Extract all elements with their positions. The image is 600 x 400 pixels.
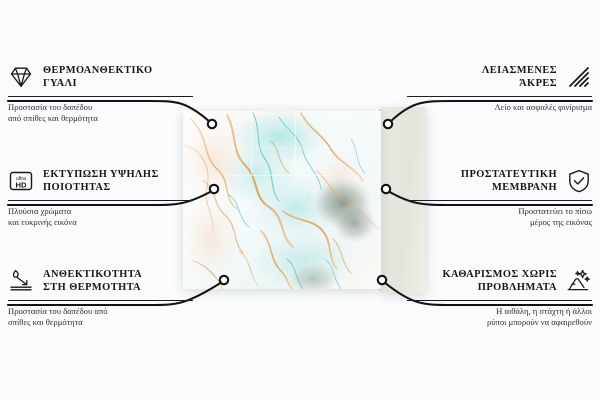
feature-divider (407, 96, 592, 97)
feature-header: ΚΑΘΑΡΙΣΜΟΣ ΧΩΡΙΣ ΠΡΟΒΛΗΜΑΤΑ (407, 266, 592, 296)
feature-protective-membrane[interactable]: ΠΡΟΣΤΑΤΕΥΤΙΚΗ ΜΕΜΒΡΑΝΗ Προστατεύει το πί… (407, 166, 592, 228)
feature-divider (407, 300, 592, 301)
glass-frame-reflection-3 (229, 175, 333, 176)
feature-header: ΑΝΘΕΚΤΙΚΟΤΗΤΑ ΣΤΗ ΘΕΡΜΟΤΗΤΑ (8, 266, 193, 296)
glass-frame-reflection-4 (217, 147, 337, 148)
feature-divider (407, 200, 592, 201)
feature-title: ΕΚΤΥΠΩΣΗ ΥΨΗΛΗΣ ΠΟΙΟΤΗΤΑΣ (43, 168, 159, 194)
glass-reflection-overlay (183, 111, 381, 289)
feature-header: ΘΕΡΜΟΑΝΘΕΚΤΙΚΟ ΓΥΑΛΙ (8, 62, 193, 92)
feature-title: ΠΡΟΣΤΑΤΕΥΤΙΚΗ ΜΕΜΒΡΑΝΗ (461, 168, 557, 194)
feature-description: Λείο και ασφαλές φινίρισμα (407, 102, 592, 113)
ultra-hd-icon: ultra HD (8, 168, 34, 194)
feature-heat-durability[interactable]: ΑΝΘΕΚΤΙΚΟΤΗΤΑ ΣΤΗ ΘΕΡΜΟΤΗΤΑ Προστασία το… (8, 266, 193, 328)
feature-easy-cleaning[interactable]: ΚΑΘΑΡΙΣΜΟΣ ΧΩΡΙΣ ΠΡΟΒΛΗΜΑΤΑ Η αιθάλη, η … (407, 266, 592, 328)
feature-title: ΛΕΙΑΣΜΕΝΕΣ ΆΚΡΕΣ (482, 64, 557, 90)
feature-title: ΑΝΘΕΚΤΙΚΟΤΗΤΑ ΣΤΗ ΘΕΡΜΟΤΗΤΑ (43, 268, 142, 294)
feature-description: Προστασία του δαπέδου από σπίθες και θερ… (8, 102, 193, 124)
sparkle-clean-icon (566, 268, 592, 294)
hatched-lines-icon (566, 64, 592, 90)
feature-header: ΠΡΟΣΤΑΤΕΥΤΙΚΗ ΜΕΜΒΡΑΝΗ (407, 166, 592, 196)
product-image (183, 111, 381, 289)
feature-title: ΚΑΘΑΡΙΣΜΟΣ ΧΩΡΙΣ ΠΡΟΒΛΗΜΑΤΑ (443, 268, 557, 294)
feature-title: ΘΕΡΜΟΑΝΘΕΚΤΙΚΟ ΓΥΑΛΙ (43, 64, 153, 90)
infographic-canvas: ΘΕΡΜΟΑΝΘΕΚΤΙΚΟ ΓΥΑΛΙ Προστασία του δαπέδ… (0, 0, 600, 400)
feature-description: Πλούσια χρώματα και ευκρινής εικόνα (8, 206, 193, 228)
feature-divider (8, 300, 193, 301)
diamond-icon (8, 64, 34, 90)
feature-description: Προστασία του δαπέδου από σπίθες και θερ… (8, 306, 193, 328)
flame-deflect-icon (8, 268, 34, 294)
feature-description: Προστατεύει το πίσω μέρος της εικόνας (407, 206, 592, 228)
feature-heat-resistant-glass[interactable]: ΘΕΡΜΟΑΝΘΕΚΤΙΚΟ ΓΥΑΛΙ Προστασία του δαπέδ… (8, 62, 193, 124)
shield-check-icon (566, 168, 592, 194)
feature-high-quality-print[interactable]: ultra HD ΕΚΤΥΠΩΣΗ ΥΨΗΛΗΣ ΠΟΙΟΤΗΤΑΣ Πλούσ… (8, 166, 193, 228)
feature-header: ultra HD ΕΚΤΥΠΩΣΗ ΥΨΗΛΗΣ ΠΟΙΟΤΗΤΑΣ (8, 166, 193, 196)
feature-header: ΛΕΙΑΣΜΕΝΕΣ ΆΚΡΕΣ (407, 62, 592, 92)
feature-divider (8, 200, 193, 201)
feature-polished-edges[interactable]: ΛΕΙΑΣΜΕΝΕΣ ΆΚΡΕΣ Λείο και ασφαλές φινίρι… (407, 62, 592, 113)
glass-frame-reflection-1 (251, 111, 252, 177)
svg-text:HD: HD (16, 180, 27, 189)
feature-divider (8, 96, 193, 97)
glass-frame-reflection-2 (295, 111, 296, 177)
feature-description: Η αιθάλη, η στάχτη ή άλλοι ρύποι μπορούν… (407, 306, 592, 328)
